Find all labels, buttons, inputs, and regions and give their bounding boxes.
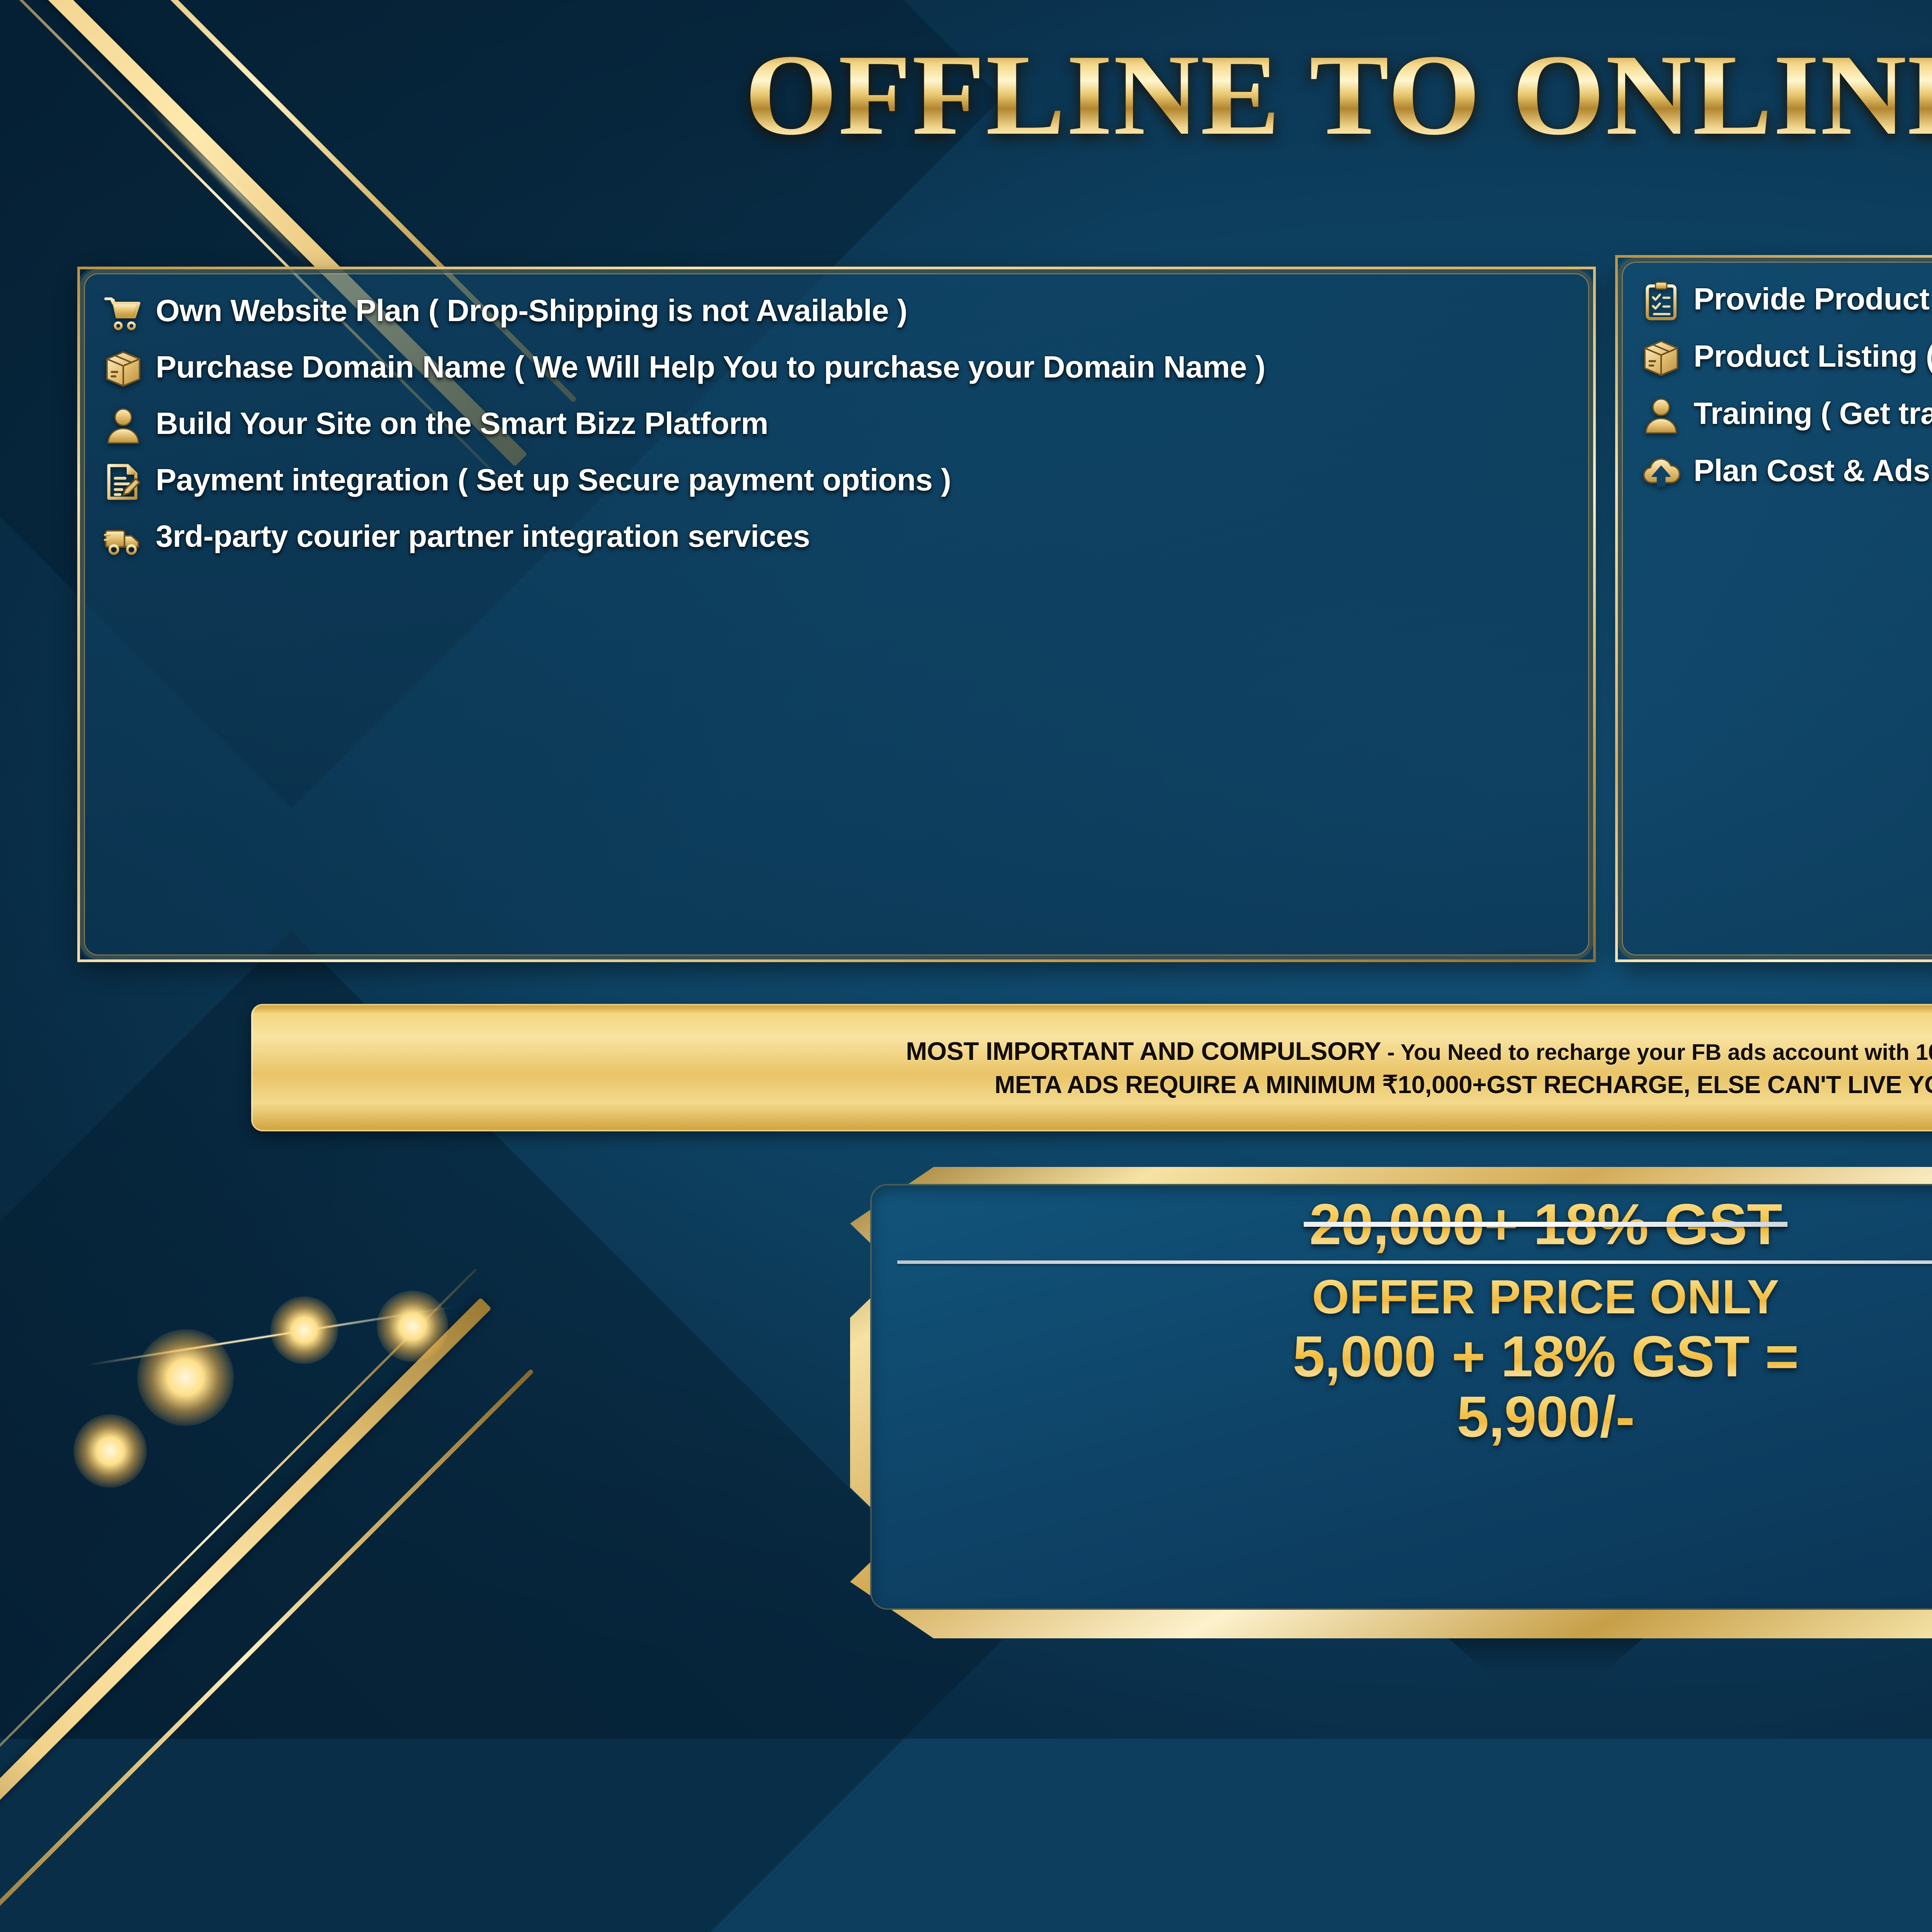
feature-list-left: Own Website Plan ( Drop-Shipping is not … bbox=[102, 293, 1575, 560]
bokeh-dot-1 bbox=[73, 1414, 147, 1488]
bokeh-dot-3 bbox=[270, 1296, 338, 1364]
clipboard-check-icon bbox=[1639, 279, 1683, 323]
badge-divider bbox=[897, 1260, 1932, 1264]
price-badge: 20,000+ 18% GST OFFER PRICE ONLY 5,000 +… bbox=[850, 1167, 1932, 1638]
package-box-icon bbox=[1639, 337, 1683, 380]
list-item-label: Plan Cost & Ads ( 5,000+ tax ( Plan Fee … bbox=[1694, 452, 1932, 489]
list-item-label: Payment integration ( Set up Secure paym… bbox=[156, 462, 951, 498]
notice-banner: MOST IMPORTANT AND COMPULSORY - You Need… bbox=[251, 1004, 1932, 1131]
old-price: 20,000+ 18% GST bbox=[1309, 1194, 1782, 1254]
package-box-icon bbox=[102, 347, 145, 391]
offer-label: OFFER PRICE ONLY bbox=[1312, 1272, 1779, 1322]
list-item-label: Training ( Get training for adding more … bbox=[1694, 395, 1932, 432]
shopping-cart-icon bbox=[102, 291, 145, 334]
person-icon bbox=[1639, 394, 1683, 437]
notice-line-2: META ADS REQUIRE A MINIMUM ₹10,000+GST R… bbox=[995, 1070, 1932, 1099]
list-item: Provide Product Info ( Client provides p… bbox=[1639, 281, 1932, 323]
list-item-label: Product Listing ( We will List 20 produc… bbox=[1694, 338, 1932, 374]
list-item-label: Build Your Site on the Smart Bizz Platfo… bbox=[156, 405, 768, 442]
bokeh-dot-2 bbox=[137, 1329, 234, 1426]
person-icon bbox=[102, 404, 145, 447]
list-item: 3rd-party courier partner integration se… bbox=[102, 518, 1575, 560]
list-item: Product Listing ( We will List 20 produc… bbox=[1639, 338, 1932, 380]
list-item-label: Purchase Domain Name ( We Will Help You … bbox=[156, 349, 1265, 385]
memo-pencil-icon bbox=[102, 460, 145, 503]
list-item-label: 3rd-party courier partner integration se… bbox=[156, 518, 810, 554]
list-item: Build Your Site on the Smart Bizz Platfo… bbox=[102, 405, 1575, 447]
strikethrough-line bbox=[1304, 1222, 1787, 1227]
notice-lead: MOST IMPORTANT AND COMPULSORY bbox=[906, 1037, 1381, 1065]
list-item-label: Own Website Plan ( Drop-Shipping is not … bbox=[156, 293, 907, 329]
list-item: Plan Cost & Ads ( 5,000+ tax ( Plan Fee … bbox=[1639, 452, 1932, 494]
list-item: Own Website Plan ( Drop-Shipping is not … bbox=[102, 293, 1575, 334]
page-title: OFFLINE TO ONLINE PLAN bbox=[0, 37, 1932, 153]
bokeh-dot-4 bbox=[377, 1291, 448, 1362]
list-item: Purchase Domain Name ( We Will Help You … bbox=[102, 349, 1575, 391]
cloud-upload-icon bbox=[1639, 451, 1683, 494]
features-card-right: Provide Product Info ( Client provides p… bbox=[1615, 255, 1932, 962]
offer-total: 5,900/- bbox=[1457, 1386, 1634, 1447]
page-title-wrap: OFFLINE TO ONLINE PLAN bbox=[0, 37, 1932, 153]
offer-price: 5,000 + 18% GST = bbox=[1293, 1326, 1799, 1386]
list-item: Payment integration ( Set up Secure paym… bbox=[102, 462, 1575, 503]
list-item: Training ( Get training for adding more … bbox=[1639, 395, 1932, 437]
notice-rest: - You Need to recharge your FB ads accou… bbox=[1381, 1040, 1932, 1065]
features-card-left: Own Website Plan ( Drop-Shipping is not … bbox=[77, 267, 1596, 962]
notice-line-1: MOST IMPORTANT AND COMPULSORY - You Need… bbox=[906, 1036, 1932, 1066]
badge-inner-panel: 20,000+ 18% GST OFFER PRICE ONLY 5,000 +… bbox=[870, 1184, 1932, 1610]
list-item-label: Provide Product Info ( Client provides p… bbox=[1694, 281, 1932, 317]
feature-list-right: Provide Product Info ( Client provides p… bbox=[1639, 281, 1932, 494]
delivery-truck-icon bbox=[102, 517, 145, 560]
